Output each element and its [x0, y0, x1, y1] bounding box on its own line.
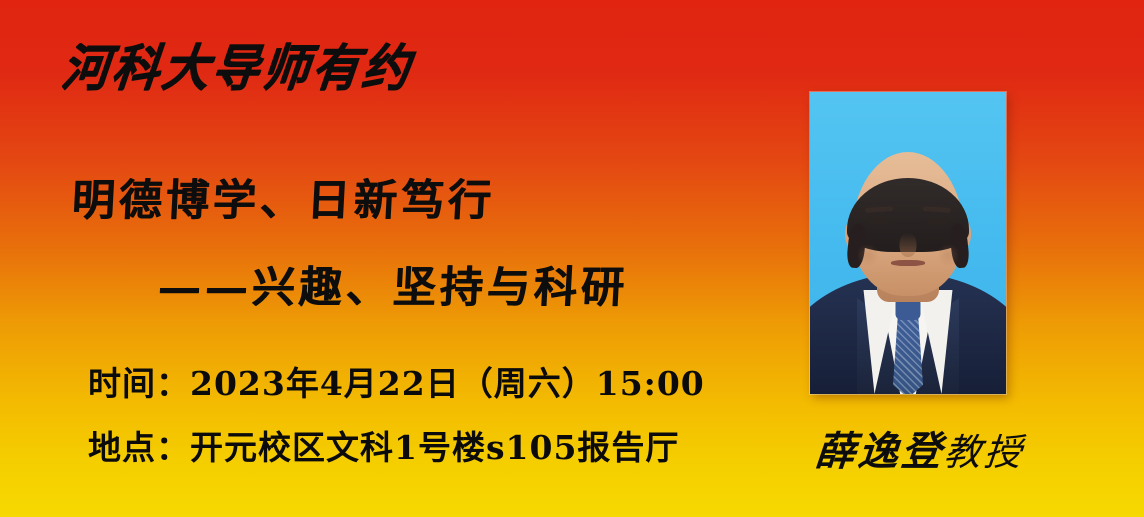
- portrait-eye-right: [926, 217, 948, 225]
- speaker-rank: 教授: [942, 431, 1026, 474]
- speaker-name-block: 薛逸登教授: [787, 419, 1052, 477]
- speaker-portrait-photo: [810, 92, 1006, 394]
- poster-motto: 明德博学、日新笃行: [70, 166, 496, 228]
- portrait-cheek-left: [858, 242, 878, 268]
- portrait-nose: [900, 233, 917, 257]
- portrait-cheek-right: [938, 242, 958, 268]
- event-time-line: 时间：2023年4月22日（周六）15:00: [88, 357, 705, 405]
- poster-subtitle: ——兴趣、坚持与科研: [156, 253, 629, 315]
- event-location-line: 地点：开元校区文科1号楼s105报告厅: [88, 421, 679, 469]
- poster-headline: 河科大导师有约: [59, 43, 414, 95]
- portrait-eye-left: [868, 217, 890, 225]
- portrait-necktie: [893, 316, 923, 394]
- poster-text-column: 河科大导师有约 明德博学、日新笃行 ——兴趣、坚持与科研 时间：2023年4月2…: [0, 0, 790, 517]
- event-poster: 河科大导师有约 明德博学、日新笃行 ——兴趣、坚持与科研 时间：2023年4月2…: [0, 0, 1144, 517]
- portrait-necktie-knot: [896, 299, 921, 320]
- portrait-mouth: [891, 260, 925, 266]
- poster-portrait-column: 薛逸登教授: [790, 0, 1144, 517]
- speaker-name: 薛逸登: [813, 428, 946, 475]
